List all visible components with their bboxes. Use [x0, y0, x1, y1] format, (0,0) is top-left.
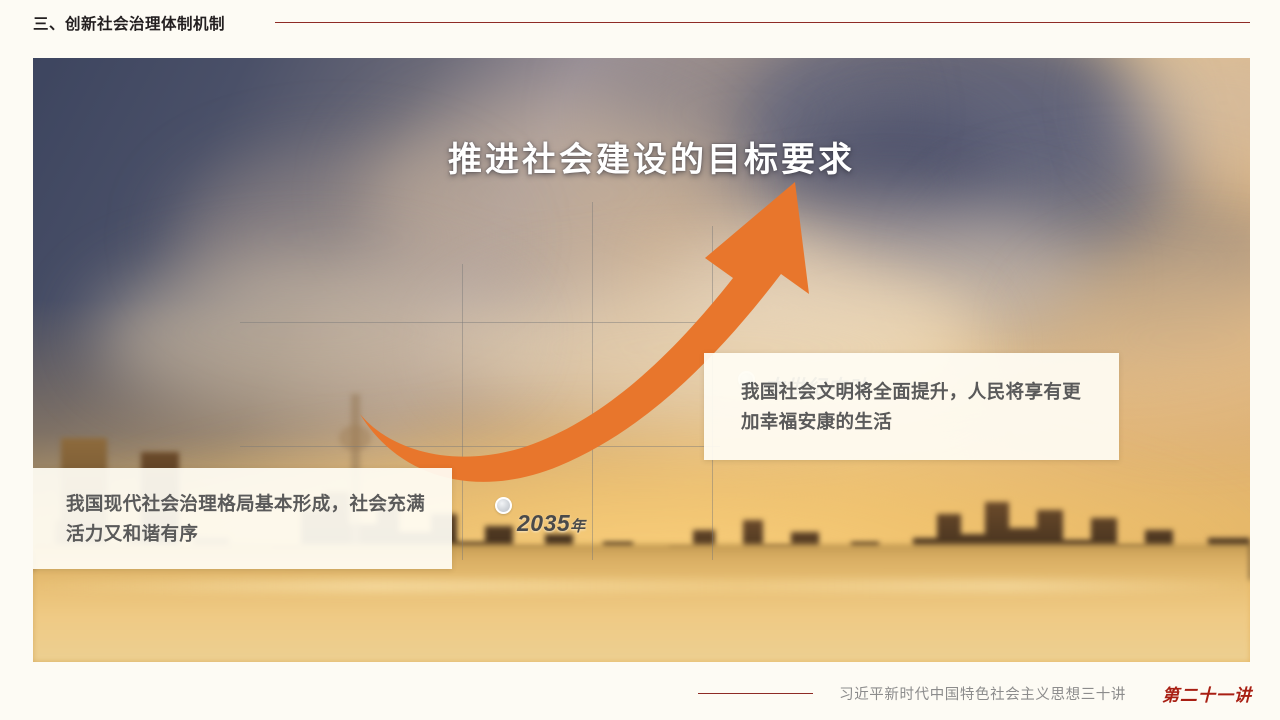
header-divider-line: [275, 22, 1250, 23]
page-title: 推进社会建设的目标要求: [33, 132, 1250, 181]
milestone-year-number: 2035: [517, 510, 570, 536]
milestone-year-unit: 年: [570, 518, 585, 535]
slide-header: 三、创新社会治理体制机制: [0, 0, 1280, 46]
image-stage: 推进社会建设的目标要求 2035年 本世纪中叶 我国现代社会治理格局基本形成，社…: [33, 58, 1250, 662]
section-title: 三、创新社会治理体制机制: [33, 12, 225, 34]
callout-box-mid-century: 我国社会文明将全面提升，人民将享有更加幸福安康的生活: [704, 353, 1119, 460]
footer-lesson-number: 第二十一讲: [1162, 681, 1252, 706]
footer-book-title: 习近平新时代中国特色社会主义思想三十讲: [839, 683, 1126, 704]
footer-divider-line: [698, 693, 813, 694]
callout-text-2035: 我国现代社会治理格局基本形成，社会充满活力又和谐有序: [66, 489, 426, 549]
callout-box-2035: 我国现代社会治理格局基本形成，社会充满活力又和谐有序: [33, 468, 452, 569]
callout-text-mid-century: 我国社会文明将全面提升，人民将享有更加幸福安康的生活: [741, 377, 1095, 437]
slide-root: 三、创新社会治理体制机制: [0, 0, 1280, 720]
milestone-dot-2035: [495, 497, 512, 514]
slide-footer: 习近平新时代中国特色社会主义思想三十讲 第二十一讲: [0, 662, 1280, 720]
milestone-label-2035: 2035年: [517, 510, 585, 537]
